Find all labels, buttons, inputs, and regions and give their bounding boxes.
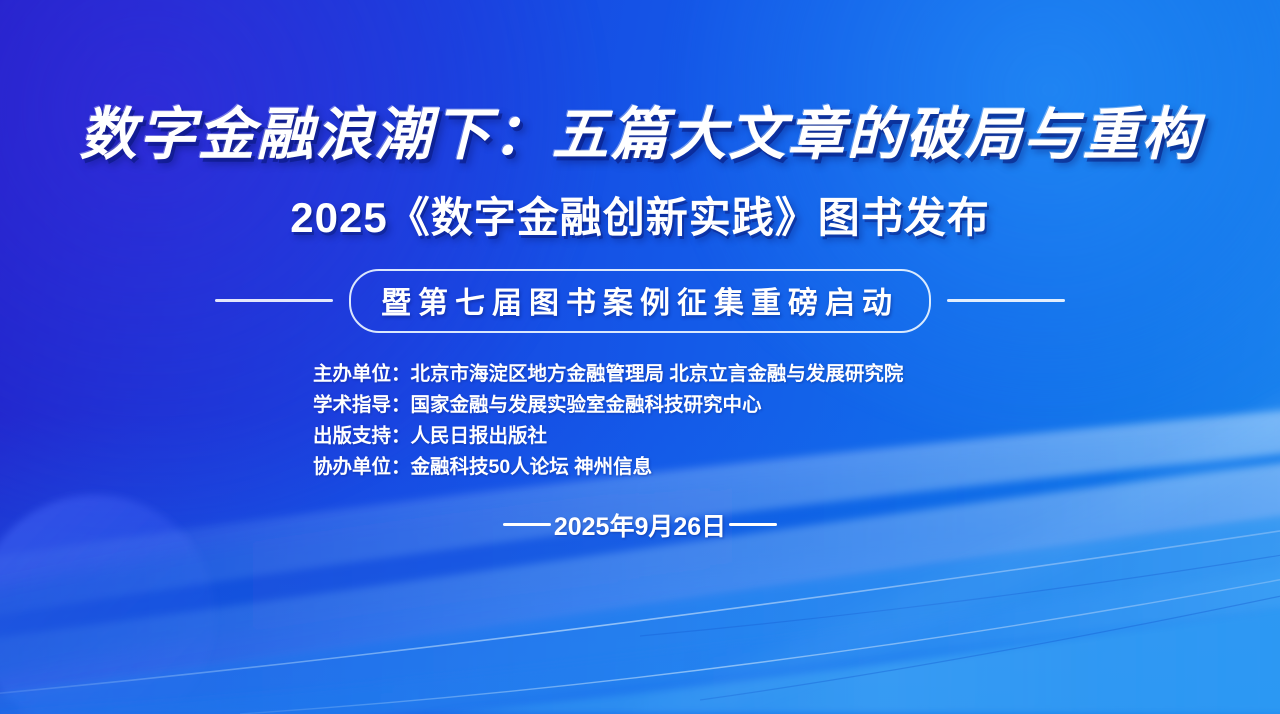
date-rule-left <box>503 523 551 526</box>
main-title: 数字金融浪潮下：五篇大文章的破局与重构 <box>80 104 1201 168</box>
highlight-pill-label: 暨第七届图书案例征集重磅启动 <box>381 287 899 320</box>
event-date-row: 2025年9月26日 <box>503 507 777 543</box>
event-date: 2025年9月26日 <box>554 507 726 543</box>
organizer-list: 主办单位：北京市海淀区地方金融管理局 北京立言金融与发展研究院 学术指导：国家金… <box>0 359 1280 483</box>
organizer-line-publisher: 出版支持：人民日报出版社 <box>313 421 547 452</box>
date-rule-right <box>729 523 777 526</box>
event-banner: 数字金融浪潮下：五篇大文章的破局与重构 2025《数字金融创新实践》图书发布 暨… <box>0 0 1280 714</box>
organizer-line-cohost: 协办单位：金融科技50人论坛 神州信息 <box>313 452 652 483</box>
banner-content: 数字金融浪潮下：五篇大文章的破局与重构 2025《数字金融创新实践》图书发布 暨… <box>0 0 1280 714</box>
organizer-line-academic: 学术指导：国家金融与发展实验室金融科技研究中心 <box>313 390 762 421</box>
rule-left <box>215 299 333 302</box>
highlight-row: 暨第七届图书案例征集重磅启动 <box>0 269 1280 333</box>
sub-title: 2025《数字金融创新实践》图书发布 <box>290 184 989 245</box>
rule-right <box>947 299 1065 302</box>
highlight-pill: 暨第七届图书案例征集重磅启动 <box>349 269 931 333</box>
organizer-line-host: 主办单位：北京市海淀区地方金融管理局 北京立言金融与发展研究院 <box>313 359 903 390</box>
